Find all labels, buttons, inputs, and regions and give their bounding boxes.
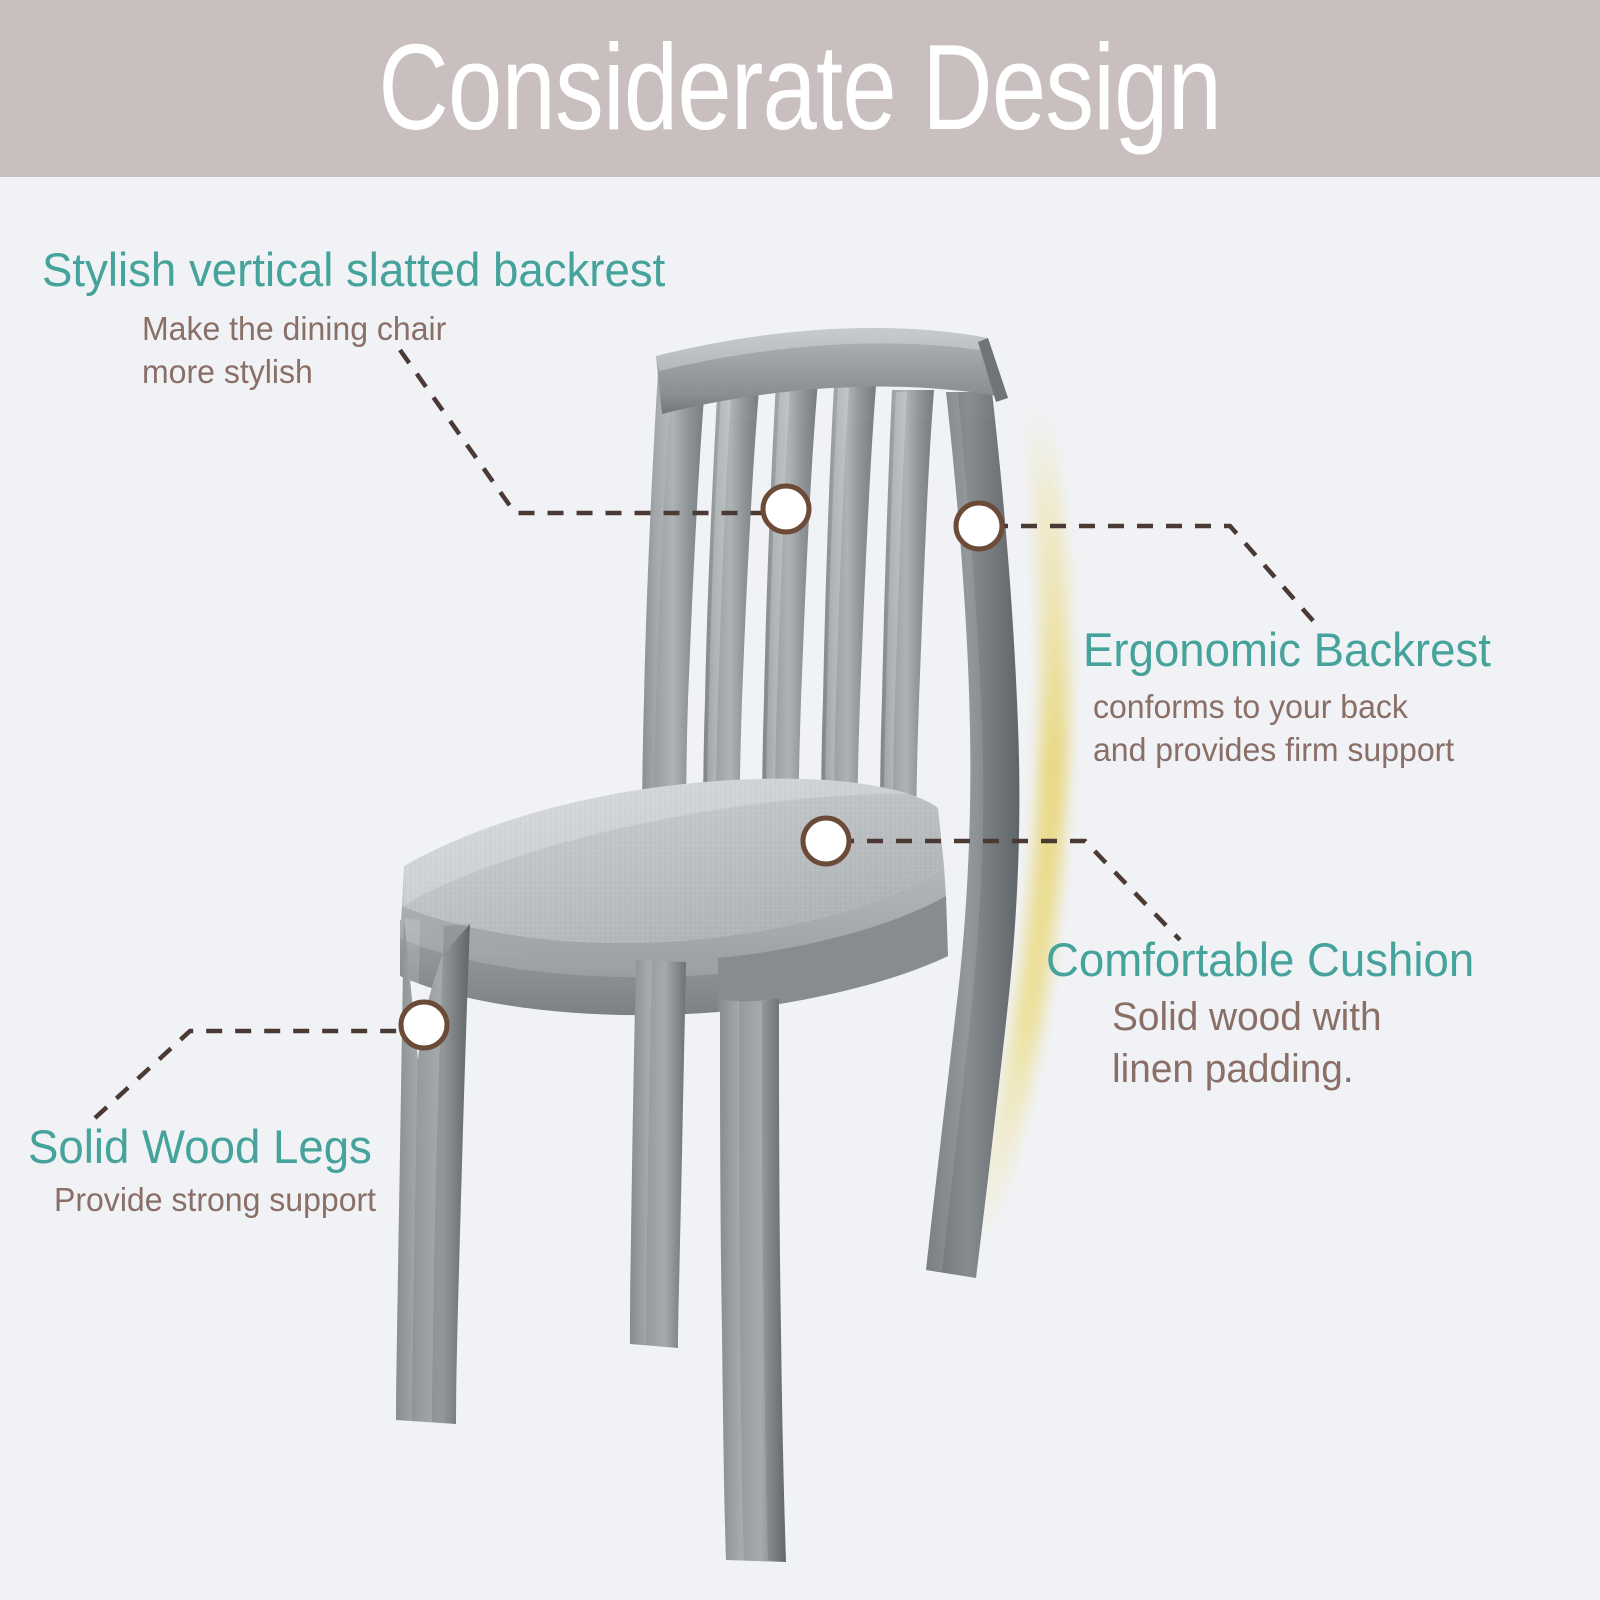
marker-dots: [0, 0, 1600, 1600]
marker-dot-backrest[interactable]: [763, 486, 809, 532]
infographic-stage: Considerate Design: [0, 0, 1600, 1600]
marker-dot-ergonomic[interactable]: [956, 503, 1002, 549]
marker-dot-cushion[interactable]: [803, 818, 849, 864]
marker-dot-legs[interactable]: [401, 1002, 447, 1048]
